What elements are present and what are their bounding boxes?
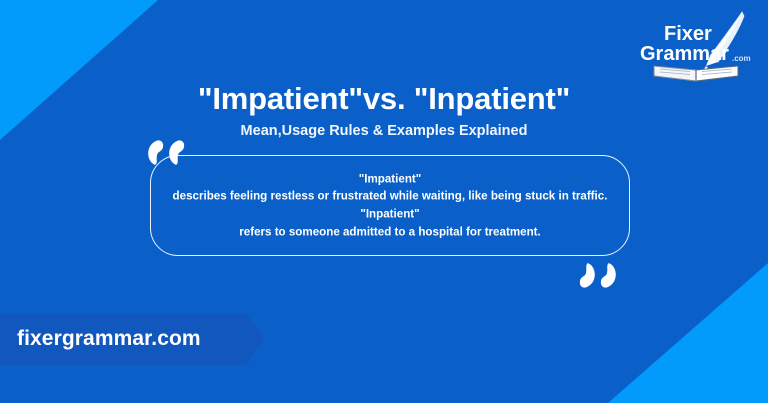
- website-banner[interactable]: fixergrammar.com: [0, 313, 246, 365]
- definition-callout: "Impatient" describes feeling restless o…: [150, 155, 630, 256]
- definition-inpatient: refers to someone admitted to a hospital…: [156, 223, 624, 241]
- page-subtitle: Mean,Usage Rules & Examples Explained: [0, 123, 768, 140]
- logo-line2: Grammar: [640, 43, 729, 65]
- definition-impatient: describes feeling restless or frustrated…: [156, 188, 624, 206]
- logo-tld: .com: [732, 54, 751, 63]
- heading-group: "Impatient"vs. "Inpatient" Mean,Usage Ru…: [0, 82, 768, 140]
- infographic-canvas: Fixer Grammar .com "Impatient"vs. "Inpat…: [0, 0, 768, 403]
- site-logo[interactable]: Fixer Grammar .com: [634, 8, 760, 84]
- website-url-label: fixergrammar.com: [0, 327, 201, 351]
- page-title: "Impatient"vs. "Inpatient": [0, 82, 768, 117]
- term-inpatient: "Inpatient": [156, 206, 624, 224]
- decorative-wedge-bottom-right: [608, 263, 768, 403]
- logo-line1: Fixer: [664, 23, 712, 45]
- callout-text: "Impatient" describes feeling restless o…: [150, 170, 630, 241]
- term-impatient: "Impatient": [156, 170, 624, 188]
- banner-arrow-tip: [246, 313, 264, 365]
- open-book-icon: [654, 66, 738, 81]
